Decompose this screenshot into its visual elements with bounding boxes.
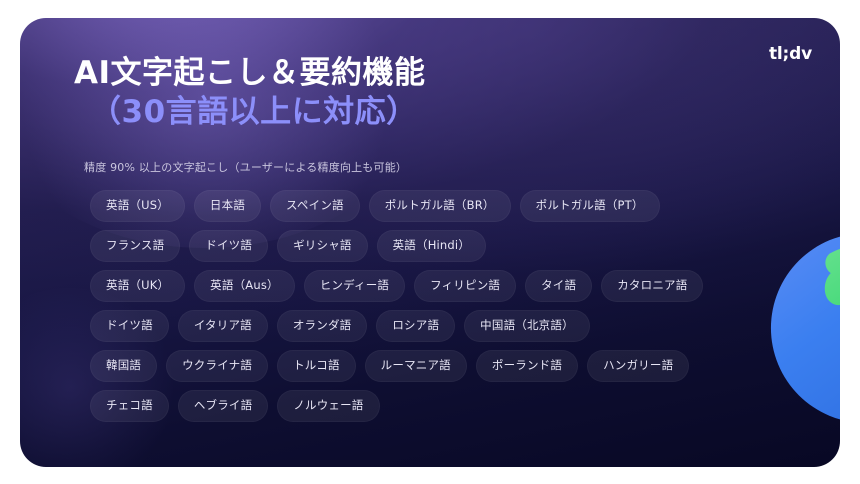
headline-line-secondary: （30言語以上に対応） <box>90 93 692 132</box>
language-chip: イタリア語 <box>178 310 268 342</box>
language-chip: ハンガリー語 <box>587 350 689 382</box>
language-chip: フランス語 <box>90 230 180 262</box>
slide-root: tl;dv AI文字起こし＆要約機能 （30言語以上に対応） 精度 90% 以上… <box>0 0 860 484</box>
language-chip: 英語（UK） <box>90 270 185 302</box>
chip-row: ドイツ語イタリア語オランダ語ロシア語中国語（北京語） <box>90 310 750 342</box>
language-chip: ルーマニア語 <box>365 350 467 382</box>
feature-card: tl;dv AI文字起こし＆要約機能 （30言語以上に対応） 精度 90% 以上… <box>20 18 840 467</box>
language-chip: ノルウェー語 <box>277 390 379 422</box>
language-chip: チェコ語 <box>90 390 169 422</box>
chip-row: チェコ語ヘブライ語ノルウェー語 <box>90 390 750 422</box>
chip-row: 英語（UK）英語（Aus）ヒンディー語フィリピン語タイ語カタロニア語 <box>90 270 750 302</box>
language-chip: ウクライナ語 <box>166 350 268 382</box>
language-chip: スペイン語 <box>270 190 360 222</box>
language-chip: 英語（Aus） <box>194 270 295 302</box>
language-chip: ドイツ語 <box>189 230 268 262</box>
language-chip: ポルトガル語（BR） <box>369 190 511 222</box>
language-chip: 中国語（北京語） <box>464 310 590 342</box>
language-chip: ドイツ語 <box>90 310 169 342</box>
language-chip: ポルトガル語（PT） <box>520 190 660 222</box>
chip-row: 韓国語ウクライナ語トルコ語ルーマニア語ポーランド語ハンガリー語 <box>90 350 750 382</box>
language-chip: ポーランド語 <box>476 350 578 382</box>
language-chip: タイ語 <box>525 270 592 302</box>
headline-line-primary: AI文字起こし＆要約機能 <box>74 54 692 93</box>
language-chip: ヒンディー語 <box>304 270 405 302</box>
language-chip: オランダ語 <box>277 310 368 342</box>
subheadline-text: 精度 90% 以上の文字起こし（ユーザーによる精度向上も可能） <box>84 160 407 175</box>
language-chip-grid: 英語（US）日本語スペイン語ポルトガル語（BR）ポルトガル語（PT） フランス語… <box>90 190 750 422</box>
language-chip: 英語（Hindi） <box>377 230 486 262</box>
brand-logo: tl;dv <box>769 44 812 64</box>
language-chip: フィリピン語 <box>414 270 516 302</box>
headline-block: AI文字起こし＆要約機能 （30言語以上に対応） <box>72 54 692 133</box>
language-chip: ロシア語 <box>376 310 455 342</box>
language-chip: ギリシャ語 <box>277 230 368 262</box>
language-chip: ヘブライ語 <box>178 390 269 422</box>
language-chip: トルコ語 <box>277 350 356 382</box>
chip-row: 英語（US）日本語スペイン語ポルトガル語（BR）ポルトガル語（PT） <box>90 190 750 222</box>
globe-americas-icon <box>768 230 840 426</box>
language-chip: 英語（US） <box>90 190 185 222</box>
language-chip: 日本語 <box>194 190 261 222</box>
language-chip: カタロニア語 <box>601 270 703 302</box>
chip-row: フランス語ドイツ語ギリシャ語英語（Hindi） <box>90 230 750 262</box>
language-chip: 韓国語 <box>90 350 157 382</box>
